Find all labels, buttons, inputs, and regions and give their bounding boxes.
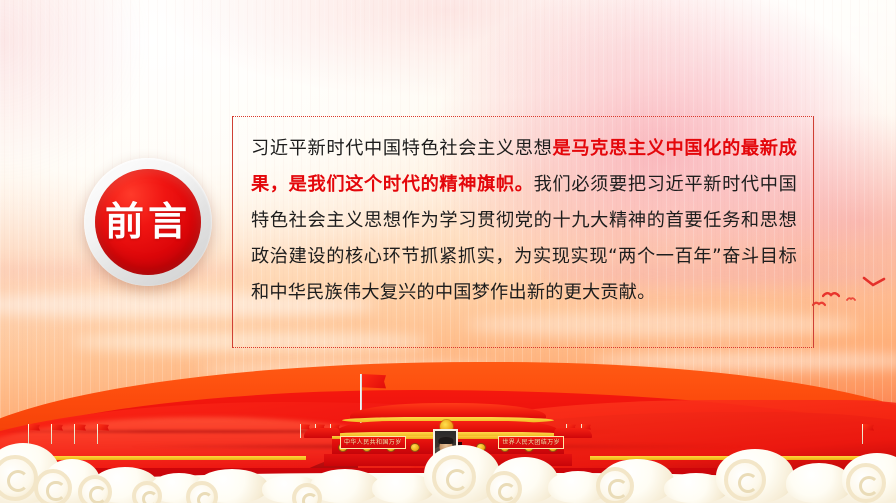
bird-icon — [846, 296, 856, 301]
cloud-swirl — [846, 463, 886, 503]
cloud-swirl — [78, 475, 112, 503]
cloud-swirl — [724, 459, 766, 501]
bird-icon — [822, 290, 840, 298]
quote-body-text: 习近平新时代中国特色社会主义思想是马克思主义中国化的最新成果，是我们这个时代的精… — [251, 131, 797, 311]
cloud-swirl — [596, 467, 634, 503]
cloud-swirl — [486, 471, 522, 503]
bird-icon — [862, 276, 886, 288]
badge-red-disc: 前言 — [95, 169, 201, 275]
badge-label: 前言 — [105, 203, 191, 242]
slide-canvas: 中华人民共和国万岁 世界人民大团结万岁 — [0, 0, 896, 503]
cloud-swirl — [432, 455, 476, 499]
preface-badge[interactable]: 前言 — [84, 158, 212, 286]
quote-text-panel: 习近平新时代中国特色社会主义思想是马克思主义中国化的最新成果，是我们这个时代的精… — [232, 116, 814, 348]
cloud-swirl — [132, 481, 162, 503]
auspicious-cloud-band — [0, 421, 896, 503]
cloud-swirl — [34, 469, 72, 503]
quote-segment-0: 习近平新时代中国特色社会主义思想 — [251, 138, 553, 159]
bird-icon — [812, 300, 826, 307]
national-flag-icon — [362, 374, 386, 389]
